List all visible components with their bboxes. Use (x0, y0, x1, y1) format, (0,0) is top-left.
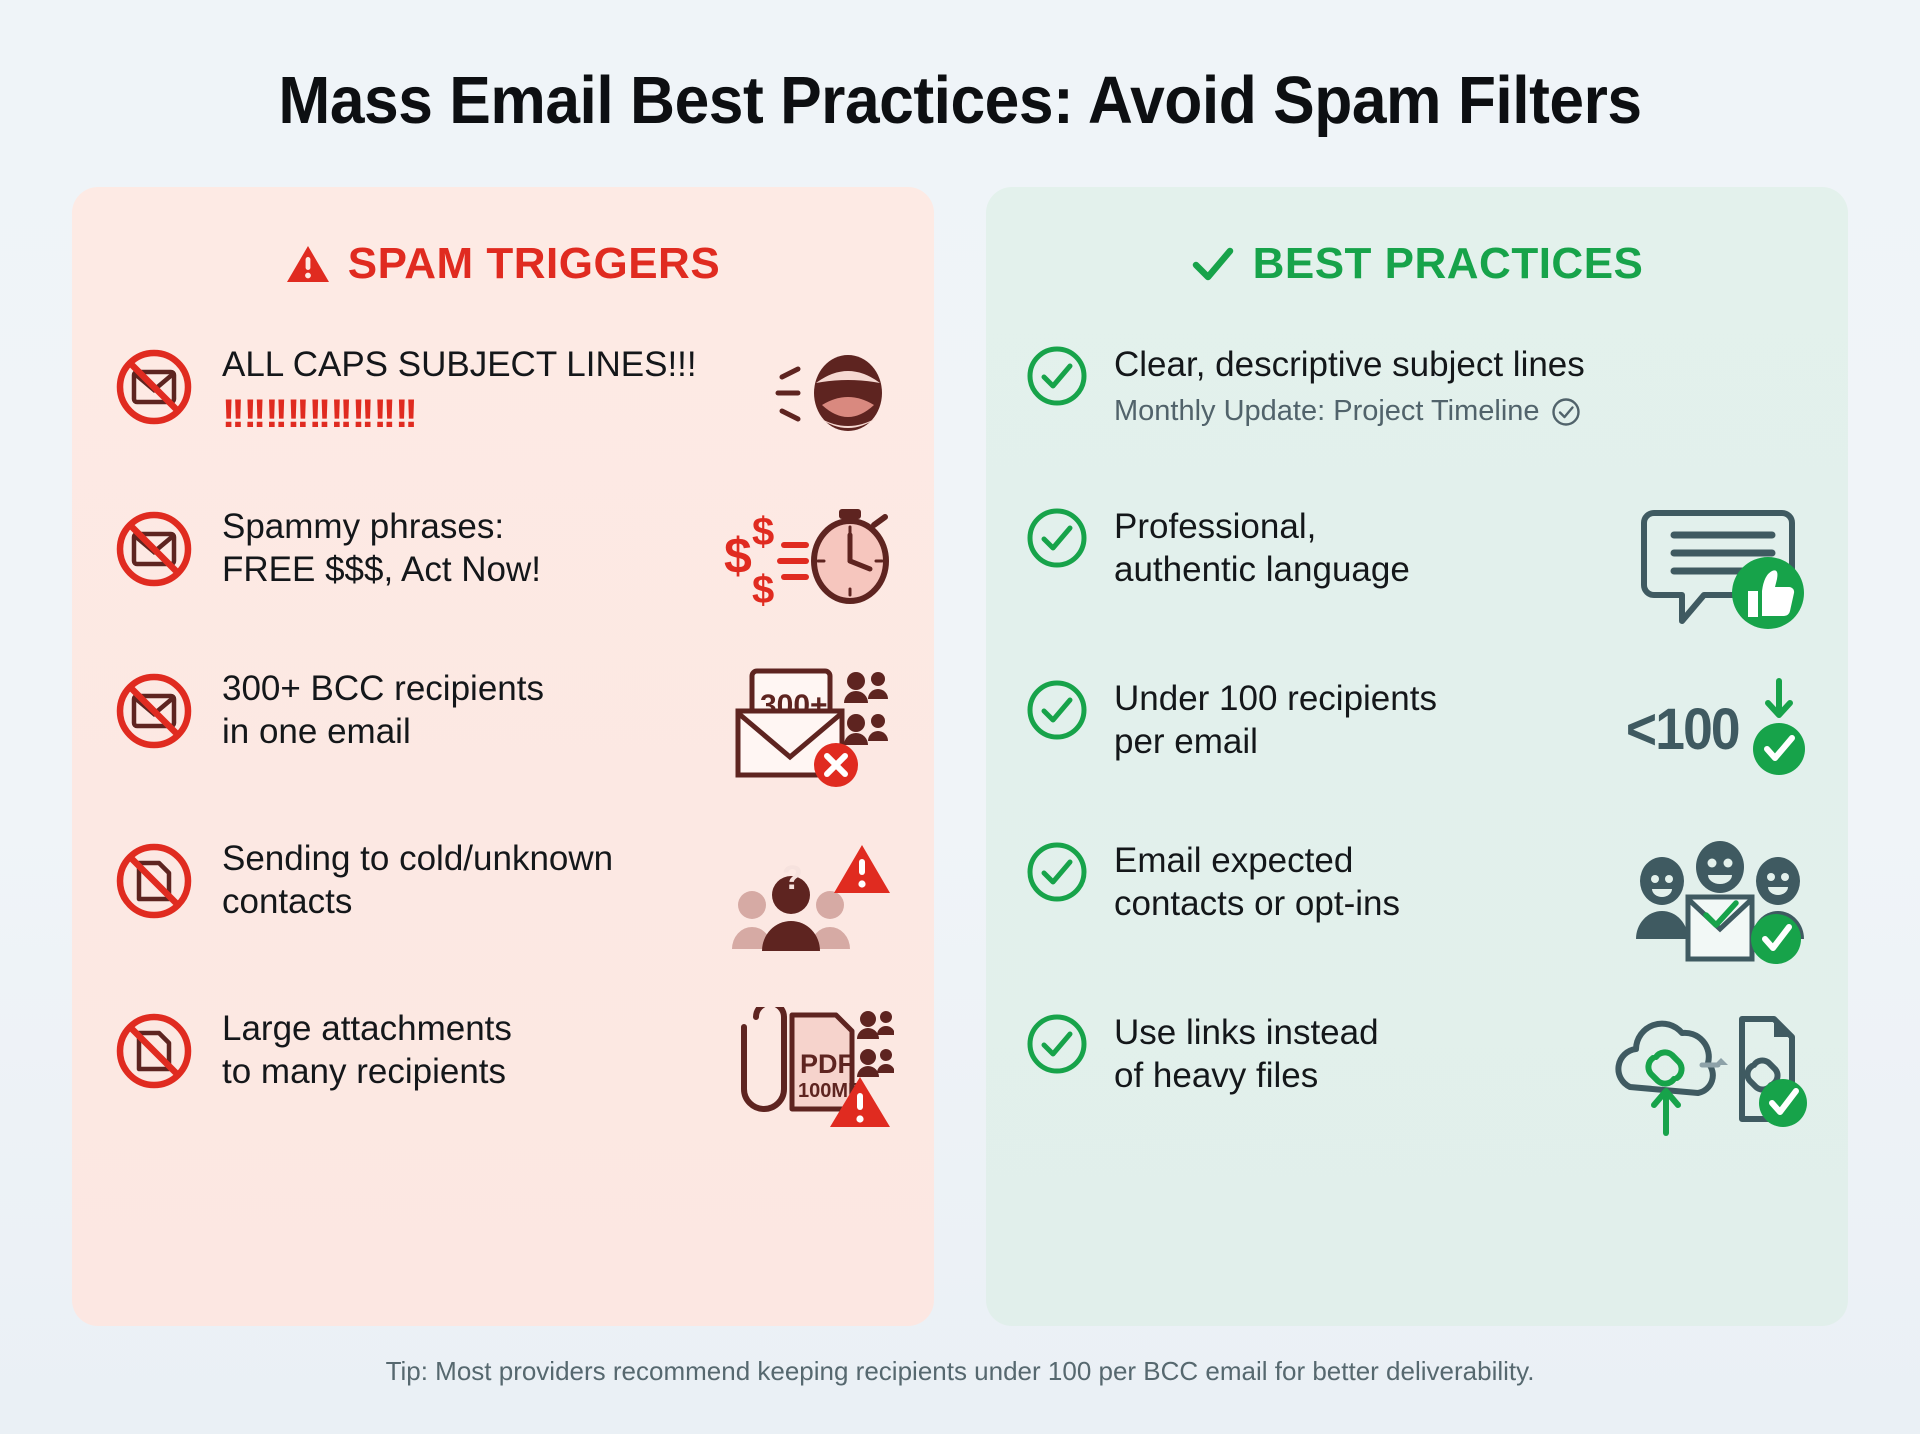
panels-container: SPAM TRIGGERS ALL CAPS SUBJECT LINES!!! … (72, 187, 1848, 1326)
practice-item-expected-contacts: Email expected contacts or opt-ins (1026, 837, 1808, 965)
check-icon (1191, 244, 1235, 284)
speech-bubble-thumbs-up-icon (1640, 505, 1808, 631)
best-practices-heading: BEST PRACTICES (1026, 239, 1808, 289)
no-document-icon (112, 1009, 196, 1093)
no-envelope-icon (112, 669, 196, 753)
practice-item-subject-lines-text: Clear, descriptive subject lines Monthly… (1114, 341, 1614, 430)
practice-item-use-links-text: Use links instead of heavy files (1114, 1009, 1582, 1097)
exclamation-strip: !!!! !!!! !!!! !!!! !! (222, 394, 700, 434)
spam-triggers-heading: SPAM TRIGGERS (112, 239, 894, 289)
spam-item-spammy-phrases-text: Spammy phrases: FREE $$$, Act Now! (222, 503, 696, 591)
check-circle-icon (1026, 679, 1088, 741)
spam-item-cold-contacts: Sending to cold/unknown contacts ? (112, 835, 894, 961)
check-circle-outline-icon (1551, 397, 1581, 427)
under-100-label: <100 (1626, 696, 1739, 763)
spam-item-bcc-recipients: 300+ BCC recipients in one email 300+ (112, 665, 894, 791)
check-circle-icon (1026, 507, 1088, 569)
footer-tip: Tip: Most providers recommend keeping re… (72, 1356, 1848, 1387)
check-circle-icon (1026, 345, 1088, 407)
check-circle-icon (1026, 1013, 1088, 1075)
svg-text:PDF: PDF (800, 1049, 854, 1079)
spam-item-all-caps-text: ALL CAPS SUBJECT LINES!!! !!!! !!!! !!!!… (222, 341, 700, 434)
spam-item-spammy-phrases: Spammy phrases: FREE $$$, Act Now! $ $ $ (112, 503, 894, 621)
practice-item-use-links: Use links instead of heavy files (1026, 1009, 1808, 1137)
cloud-link-file-icon (1608, 1011, 1808, 1137)
svg-text:$: $ (724, 528, 752, 584)
practice-item-subject-lines: Clear, descriptive subject lines Monthly… (1026, 341, 1808, 459)
best-practices-panel: BEST PRACTICES Clear, descriptive subjec… (986, 187, 1848, 1326)
no-envelope-icon (112, 345, 196, 429)
under-100-icon: <100 (1621, 677, 1808, 781)
shouting-mouth-icon (726, 343, 894, 439)
subject-line-example: Monthly Update: Project Timeline (1114, 394, 1614, 430)
spam-item-large-attachments-text: Large attachments to many recipients (222, 1005, 700, 1093)
envelope-300-plus-icon: 300+ (726, 667, 894, 791)
spam-item-all-caps: ALL CAPS SUBJECT LINES!!! !!!! !!!! !!!!… (112, 341, 894, 459)
pdf-attachment-warning-icon: PDF 100MB (726, 1007, 894, 1131)
spam-item-cold-contacts-text: Sending to cold/unknown contacts (222, 835, 700, 923)
best-practices-heading-label: BEST PRACTICES (1253, 239, 1644, 289)
svg-text:?: ? (782, 859, 803, 897)
check-circle-icon (1026, 841, 1088, 903)
practice-item-under-100-text: Under 100 recipients per email (1114, 675, 1595, 763)
svg-text:$: $ (752, 510, 774, 554)
no-envelope-icon (112, 507, 196, 591)
practice-item-professional-language-text: Professional, authentic language (1114, 503, 1614, 591)
spam-item-bcc-recipients-text: 300+ BCC recipients in one email (222, 665, 700, 753)
unknown-contact-warning-icon: ? (726, 837, 894, 961)
practice-item-expected-contacts-text: Email expected contacts or opt-ins (1114, 837, 1606, 925)
svg-text:$: $ (752, 568, 774, 609)
spam-triggers-heading-label: SPAM TRIGGERS (348, 239, 720, 289)
spam-triggers-panel: SPAM TRIGGERS ALL CAPS SUBJECT LINES!!! … (72, 187, 934, 1326)
page-title: Mass Email Best Practices: Avoid Spam Fi… (134, 62, 1786, 139)
warning-triangle-icon (286, 244, 330, 284)
opted-in-contacts-icon (1632, 839, 1808, 965)
spam-item-large-attachments: Large attachments to many recipients PDF… (112, 1005, 894, 1131)
practice-item-under-100: Under 100 recipients per email <100 (1026, 675, 1808, 793)
dollar-stopwatch-icon: $ $ $ (722, 505, 894, 609)
practice-item-professional-language: Professional, authentic language (1026, 503, 1808, 631)
no-document-icon (112, 839, 196, 923)
infographic-page: Mass Email Best Practices: Avoid Spam Fi… (0, 0, 1920, 1434)
